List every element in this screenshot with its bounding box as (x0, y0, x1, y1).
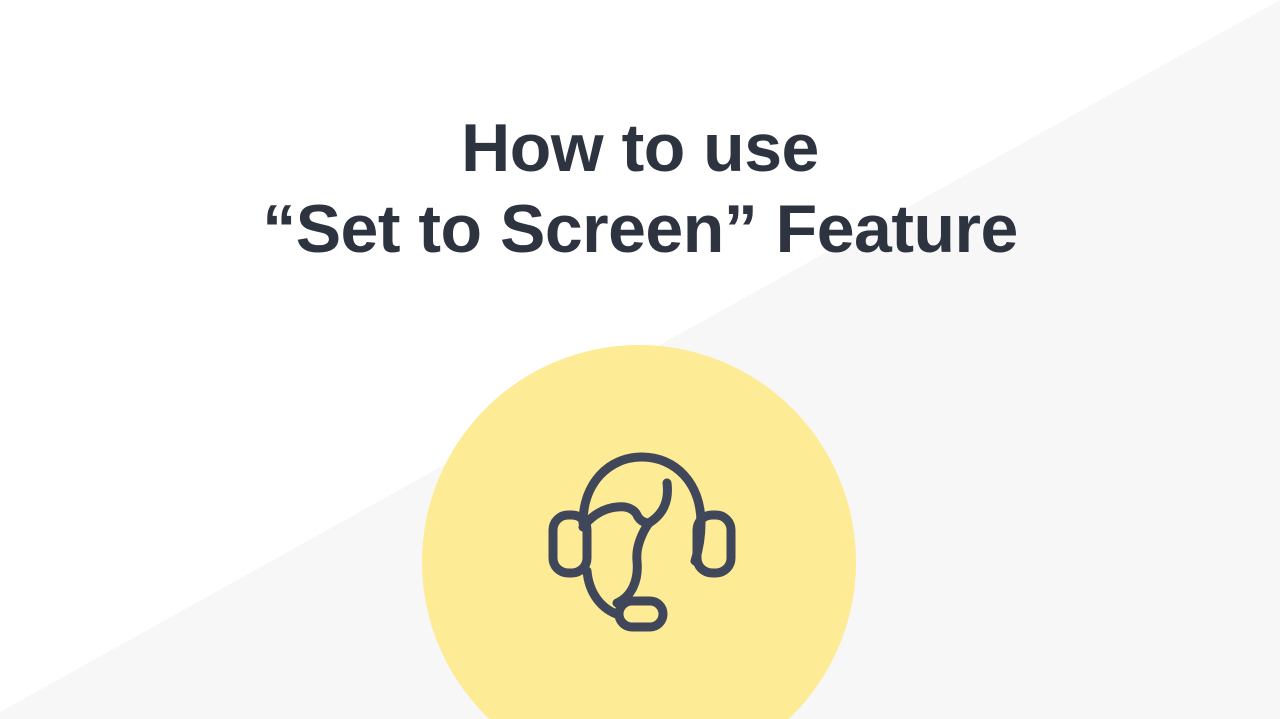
hair-swoosh-path (649, 483, 667, 523)
left-ear-cup (553, 515, 587, 573)
microphone-mouthpiece (619, 601, 663, 627)
slide-canvas: How to use “Set to Screen” Feature (0, 0, 1280, 719)
headset-support-agent-icon (545, 445, 740, 635)
title-line-1: How to use (0, 108, 1280, 189)
headset-icon-graphic (545, 445, 740, 635)
microphone-boom-arm (587, 571, 619, 615)
title-line-2: “Set to Screen” Feature (0, 189, 1280, 270)
page-title: How to use “Set to Screen” Feature (0, 108, 1280, 270)
